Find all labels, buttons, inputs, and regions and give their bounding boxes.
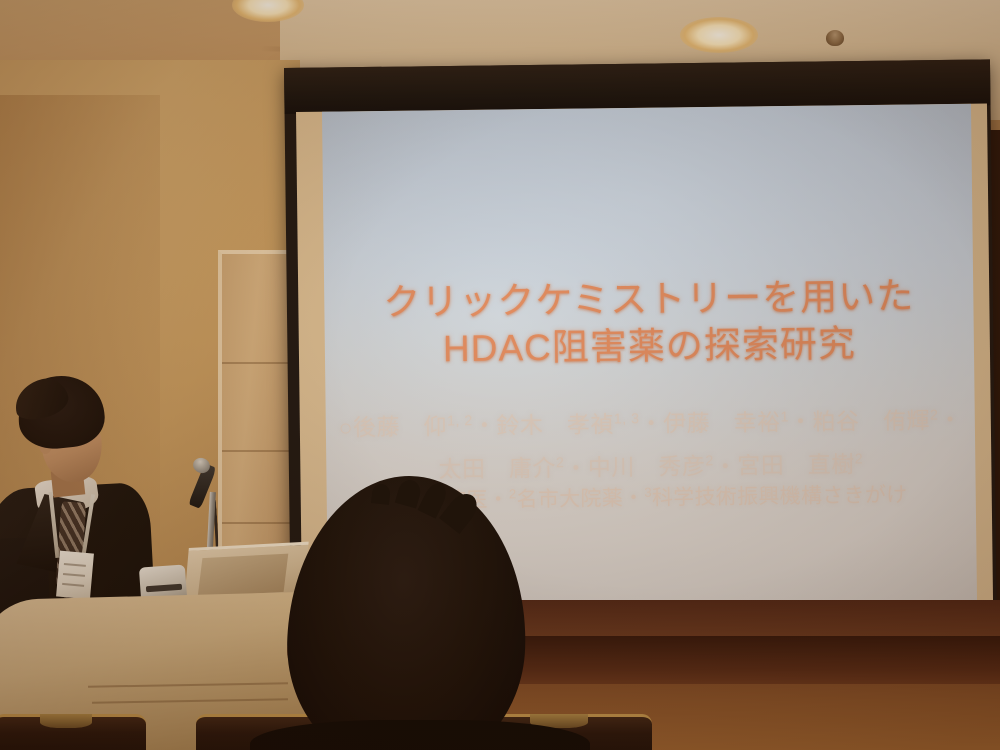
author-name: 粕谷 侑輝2 [812, 407, 938, 435]
author-label: 伊藤 幸裕 [663, 409, 781, 436]
author-label: 粕谷 侑輝 [812, 407, 930, 434]
author-name: 中川 秀彦2 [588, 453, 714, 481]
author-separator: ・ [714, 453, 738, 479]
author-separator: ・ [473, 412, 497, 438]
author-label: 宮田 直樹 [737, 452, 855, 479]
author-name: 鈴木 孝禎1, 3 [496, 410, 640, 438]
author-affiliation-marker: 2 [855, 452, 864, 468]
door-panel [218, 250, 290, 580]
slide-authors-line1: ○後藤 仰1, 2・鈴木 孝禎1, 3・伊藤 幸裕1・粕谷 侑輝2・ [326, 396, 975, 448]
sprinkler-head-icon [826, 30, 844, 46]
author-separator: ・ [639, 410, 663, 436]
author-separator: ・ [789, 408, 813, 434]
lectern-surface [198, 554, 289, 597]
author-affiliation-marker: 2 [930, 407, 939, 423]
affiliation-label: 名市大院薬 [516, 487, 623, 511]
author-affiliation-marker: 1, 3 [614, 411, 640, 427]
author-name: 太田 庸介2 [438, 455, 564, 483]
affiliation-entry: 3科学技術振興機構さきがけ [644, 484, 907, 510]
chair-back-notch [40, 714, 92, 728]
affiliation-marker: 2 [509, 486, 517, 501]
audience-member-shoulders [250, 720, 590, 750]
affiliation-entry: 2名市大院薬 [509, 487, 623, 511]
ceiling-downlight-icon [680, 17, 758, 53]
slide-title: クリックケミストリーを用いた HDAC阻害薬の探索研究 [324, 272, 974, 374]
author-name: 宮田 直樹2 [737, 451, 863, 479]
author-name: ○後藤 仰1, 2 [339, 413, 473, 441]
author-separator: ・ [488, 488, 510, 511]
author-affiliation-marker: 2 [556, 455, 565, 471]
author-label: 鈴木 孝禎 [496, 411, 614, 438]
author-label: ○後藤 仰 [339, 413, 448, 440]
author-affiliation-marker: 1, 2 [447, 413, 473, 429]
author-separator: ・ [623, 487, 645, 510]
author-label: 中川 秀彦 [588, 453, 706, 480]
affiliation-label: 科学技術振興機構さきがけ [652, 484, 908, 510]
slide-title-line1: クリックケミストリーを用いた [383, 275, 914, 322]
slide-title-line2: HDAC阻害薬の探索研究 [325, 319, 975, 374]
author-separator: ・ [564, 455, 588, 481]
author-label: 太田 庸介 [438, 455, 556, 482]
author-name: 伊藤 幸裕1 [663, 409, 789, 437]
presenter-name-badge [56, 551, 94, 600]
author-separator: ・ [938, 407, 962, 433]
conference-photo: クリックケミストリーを用いた HDAC阻害薬の探索研究 ○後藤 仰1, 2・鈴木… [0, 0, 1000, 750]
